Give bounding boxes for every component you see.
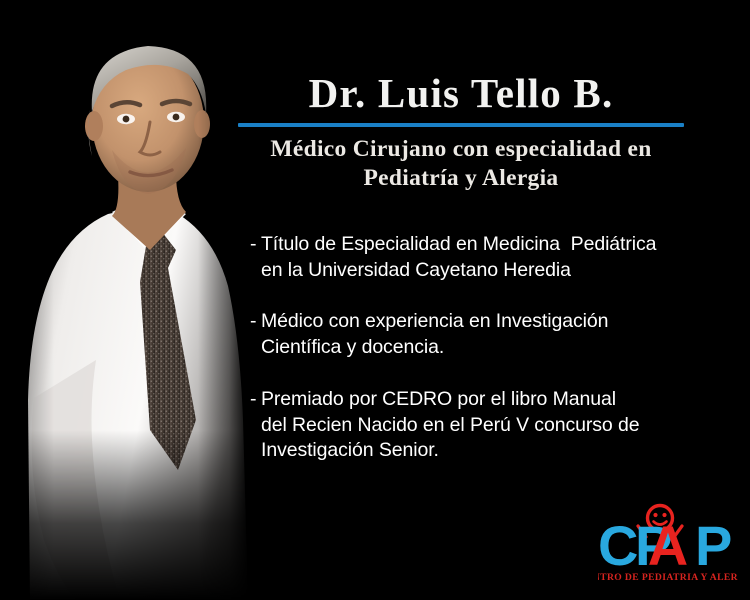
subtitle-line-2: Pediatría y Alergia — [238, 164, 684, 193]
credential-text: Médico con experiencia en Investigación … — [261, 309, 706, 360]
cpap-logo-mark: C P A P CENTRO DE PEDIATRIA Y ALERGIA — [598, 503, 738, 585]
pupil-right — [173, 114, 180, 121]
logo-letter-p2: P — [695, 514, 732, 577]
page-title: Dr. Luis Tello B. — [238, 72, 684, 115]
list-item: - Premiado por CEDRO por el libro Manual… — [250, 387, 706, 464]
subtitle-line-1: Médico Cirujano con especialidad en — [238, 135, 684, 164]
header: Dr. Luis Tello B. Médico Cirujano con es… — [238, 72, 684, 192]
logo-letter-c: C — [598, 514, 638, 577]
list-item: - Médico con experiencia en Investigació… — [250, 309, 706, 360]
credentials-list: - Título de Especialidad en Medicina Ped… — [250, 232, 706, 464]
accent-divider — [238, 123, 684, 127]
bullet-marker: - — [250, 309, 261, 335]
doctor-profile-card: Dr. Luis Tello B. Médico Cirujano con es… — [0, 0, 750, 600]
credential-text: Título de Especialidad en Medicina Pediá… — [261, 232, 706, 283]
bullet-marker: - — [250, 232, 261, 258]
bullet-marker: - — [250, 387, 261, 413]
photo-fade-left — [0, 0, 54, 600]
photo-fade-top — [0, 0, 250, 46]
list-item: - Título de Especialidad en Medicina Ped… — [250, 232, 706, 283]
logo-tagline: CENTRO DE PEDIATRIA Y ALERGIA — [598, 572, 738, 583]
logo-letter-a: A — [648, 514, 688, 577]
cpap-logo: C P A P CENTRO DE PEDIATRIA Y ALERGIA — [598, 503, 738, 585]
doctor-photo — [0, 0, 250, 600]
credential-text: Premiado por CEDRO por el libro Manual d… — [261, 387, 706, 464]
pupil-left — [123, 116, 130, 123]
subtitle: Médico Cirujano con especialidad en Pedi… — [238, 135, 684, 192]
doctor-portrait-illustration — [0, 0, 250, 600]
ear-left — [85, 111, 103, 141]
